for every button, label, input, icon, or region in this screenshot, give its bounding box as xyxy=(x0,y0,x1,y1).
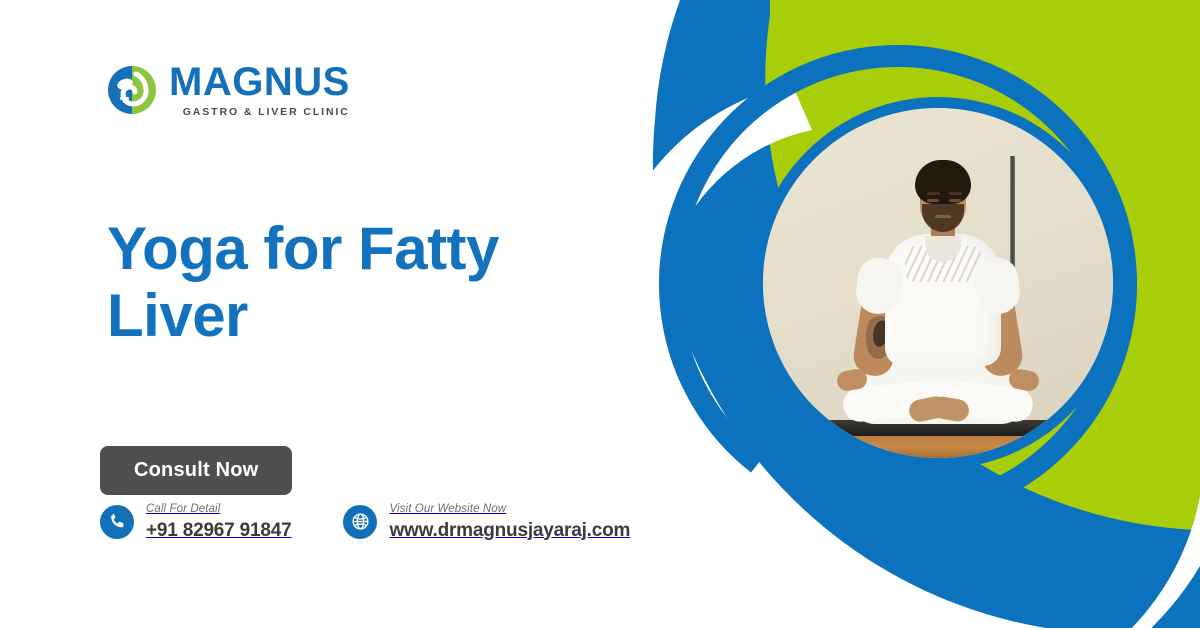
contact-phone[interactable]: Call For Detail +91 82967 91847 xyxy=(100,504,291,540)
consult-now-button[interactable]: Consult Now xyxy=(100,446,292,495)
phone-icon xyxy=(100,505,134,539)
contact-phone-label: Call For Detail xyxy=(146,504,291,516)
meditating-person-figure xyxy=(763,108,1113,458)
contact-phone-value: +91 82967 91847 xyxy=(146,521,291,540)
brand-tagline: GASTRO & LIVER CLINIC xyxy=(183,107,350,118)
contact-website-label: Visit Our Website Now xyxy=(389,504,630,516)
brand-name: MAGNUS xyxy=(169,62,350,102)
contact-website[interactable]: Visit Our Website Now www.drmagnusjayara… xyxy=(343,504,630,540)
globe-icon xyxy=(343,505,377,539)
page-title: Yoga for Fatty Liver xyxy=(107,215,577,349)
liver-stomach-circle-icon xyxy=(106,64,158,116)
promotional-banner: MAGNUS GASTRO & LIVER CLINIC Yoga for Fa… xyxy=(0,0,1200,628)
hero-photo xyxy=(763,108,1113,458)
contact-row: Call For Detail +91 82967 91847 Visit Ou xyxy=(100,504,630,540)
brand-logo[interactable]: MAGNUS GASTRO & LIVER CLINIC xyxy=(106,62,350,118)
contact-website-value: www.drmagnusjayaraj.com xyxy=(389,521,630,540)
